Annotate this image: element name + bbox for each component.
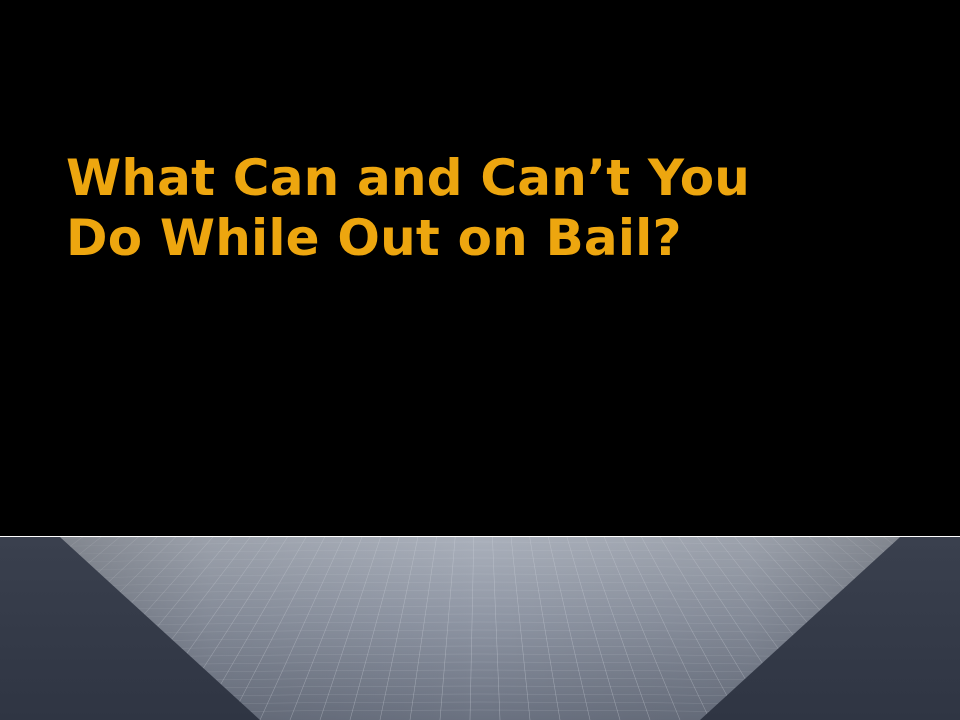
presentation-slide: What Can and Can’t You Do While Out on B…	[0, 0, 960, 720]
title-line-1: What Can and Can’t You	[66, 148, 886, 208]
title-line-2: Do While Out on Bail?	[66, 208, 886, 268]
page-title: What Can and Can’t You Do While Out on B…	[66, 148, 886, 268]
bottom-decoration-band	[0, 537, 960, 720]
fan-pattern-graphic	[0, 537, 960, 720]
